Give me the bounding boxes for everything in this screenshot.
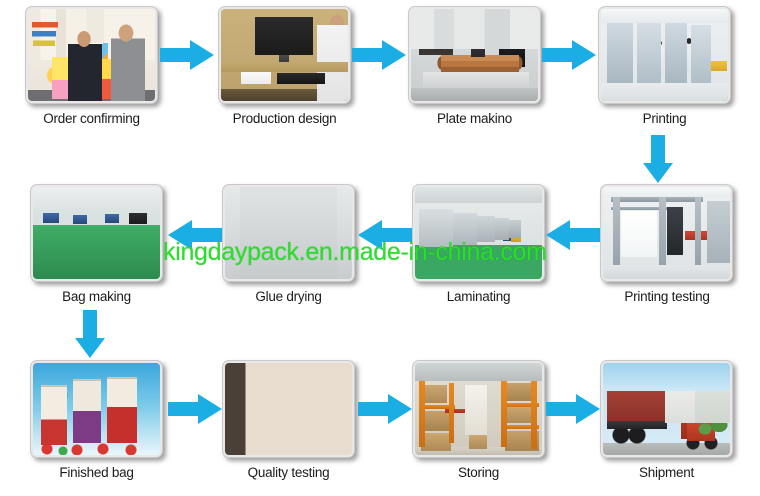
photo-frame-shipment <box>600 360 733 458</box>
step-label-finished-bag: Finished bag <box>30 465 163 480</box>
photo-production-design <box>221 9 348 101</box>
row1-arrow-1-icon <box>160 38 214 72</box>
step-label-production-design: Production design <box>218 111 351 126</box>
photo-bag-making <box>33 187 160 279</box>
photo-storing <box>415 363 542 455</box>
process-step-shipment[interactable]: Shipment <box>600 360 733 480</box>
step-label-shipment: Shipment <box>600 465 733 480</box>
step-label-quality-testing: Quality testing <box>222 465 355 480</box>
photo-frame-glue-drying <box>222 184 355 282</box>
step-label-order-confirming: Order confirming <box>25 111 158 126</box>
process-step-laminating[interactable]: Laminating <box>412 184 545 304</box>
photo-glue-drying <box>225 187 352 279</box>
photo-laminating <box>415 187 542 279</box>
process-step-order-confirming[interactable]: Order confirming <box>25 6 158 126</box>
row3-arrow-1-icon <box>168 392 222 426</box>
photo-frame-production-design <box>218 6 351 104</box>
row2-arrow-2-icon <box>358 218 412 252</box>
step-label-bag-making: Bag making <box>30 289 163 304</box>
row3-arrow-2-icon <box>358 392 412 426</box>
photo-frame-bag-making <box>30 184 163 282</box>
photo-frame-finished-bag <box>30 360 163 458</box>
process-step-production-design[interactable]: Production design <box>218 6 351 126</box>
photo-quality-testing <box>225 363 352 455</box>
step-label-laminating: Laminating <box>412 289 545 304</box>
process-step-bag-making[interactable]: Bag making <box>30 184 163 304</box>
process-step-plate-making[interactable]: Plate makino <box>408 6 541 126</box>
row2-to-row3-arrow-icon <box>73 310 107 358</box>
row2-arrow-1-icon <box>168 218 222 252</box>
row2-arrow-3-icon <box>546 218 600 252</box>
process-step-printing[interactable]: Printing <box>598 6 731 126</box>
photo-frame-plate-making <box>408 6 541 104</box>
photo-shipment <box>603 363 730 455</box>
photo-frame-printing <box>598 6 731 104</box>
step-label-storing: Storing <box>412 465 545 480</box>
photo-frame-laminating <box>412 184 545 282</box>
process-step-finished-bag[interactable]: Finished bag <box>30 360 163 480</box>
process-step-printing-testing[interactable]: Printing testing <box>600 184 747 304</box>
row1-arrow-3-icon <box>542 38 596 72</box>
photo-frame-printing-testing <box>600 184 733 282</box>
photo-frame-quality-testing <box>222 360 355 458</box>
photo-printing <box>601 9 728 101</box>
row1-arrow-2-icon <box>352 38 406 72</box>
process-step-glue-drying[interactable]: Glue drying <box>222 184 355 304</box>
photo-printing-testing <box>603 187 730 279</box>
row3-arrow-3-icon <box>546 392 600 426</box>
photo-frame-storing <box>412 360 545 458</box>
process-step-storing[interactable]: Storing <box>412 360 545 480</box>
process-flow-diagram: Order confirming Production design Plate… <box>0 0 760 496</box>
step-label-glue-drying: Glue drying <box>222 289 355 304</box>
step-label-printing-testing: Printing testing <box>587 289 747 304</box>
process-step-quality-testing[interactable]: Quality testing <box>222 360 355 480</box>
row1-to-row2-arrow-icon <box>641 135 675 183</box>
step-label-printing: Printing <box>598 111 731 126</box>
photo-plate-making <box>411 9 538 101</box>
photo-order-confirming <box>28 9 155 101</box>
photo-finished-bag <box>33 363 160 455</box>
step-label-plate-making: Plate makino <box>408 111 541 126</box>
photo-frame-order-confirming <box>25 6 158 104</box>
